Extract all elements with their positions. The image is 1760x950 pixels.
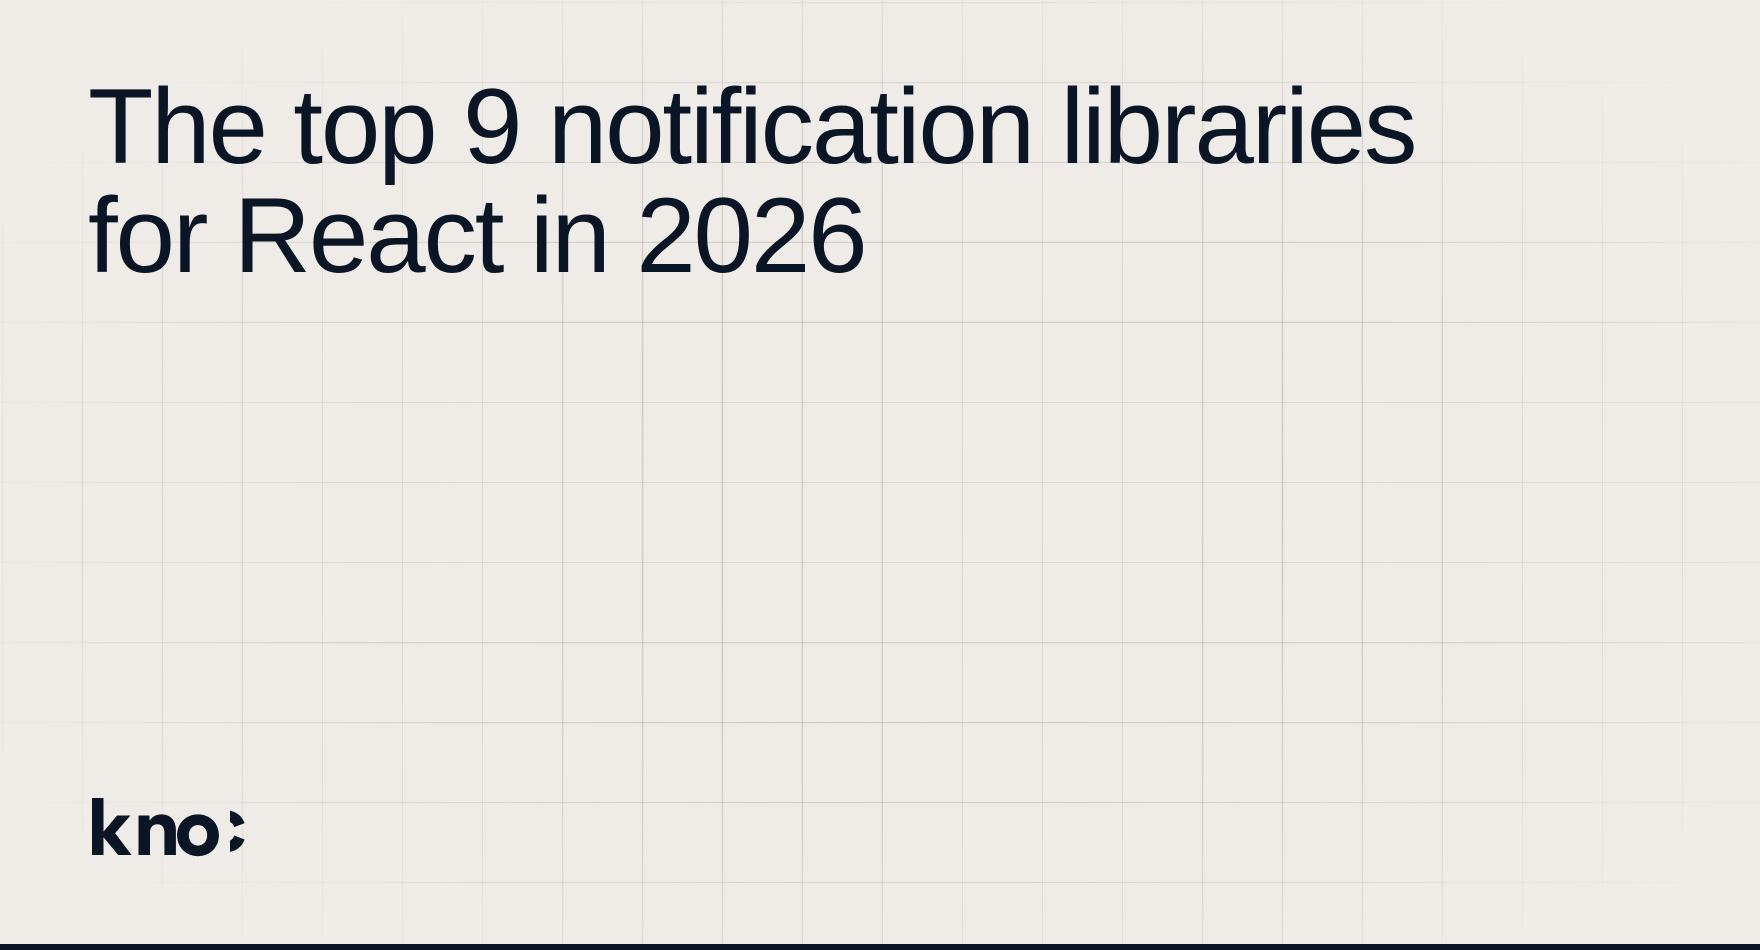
cover-canvas: The top 9 notification libraries for Rea… xyxy=(0,0,1760,950)
bottom-divider xyxy=(0,944,1760,950)
knock-wordmark-icon xyxy=(90,798,232,860)
knock-k-dot-icon xyxy=(230,794,296,860)
knock-logo[interactable] xyxy=(90,788,296,860)
page-title: The top 9 notification libraries for Rea… xyxy=(88,72,1418,290)
